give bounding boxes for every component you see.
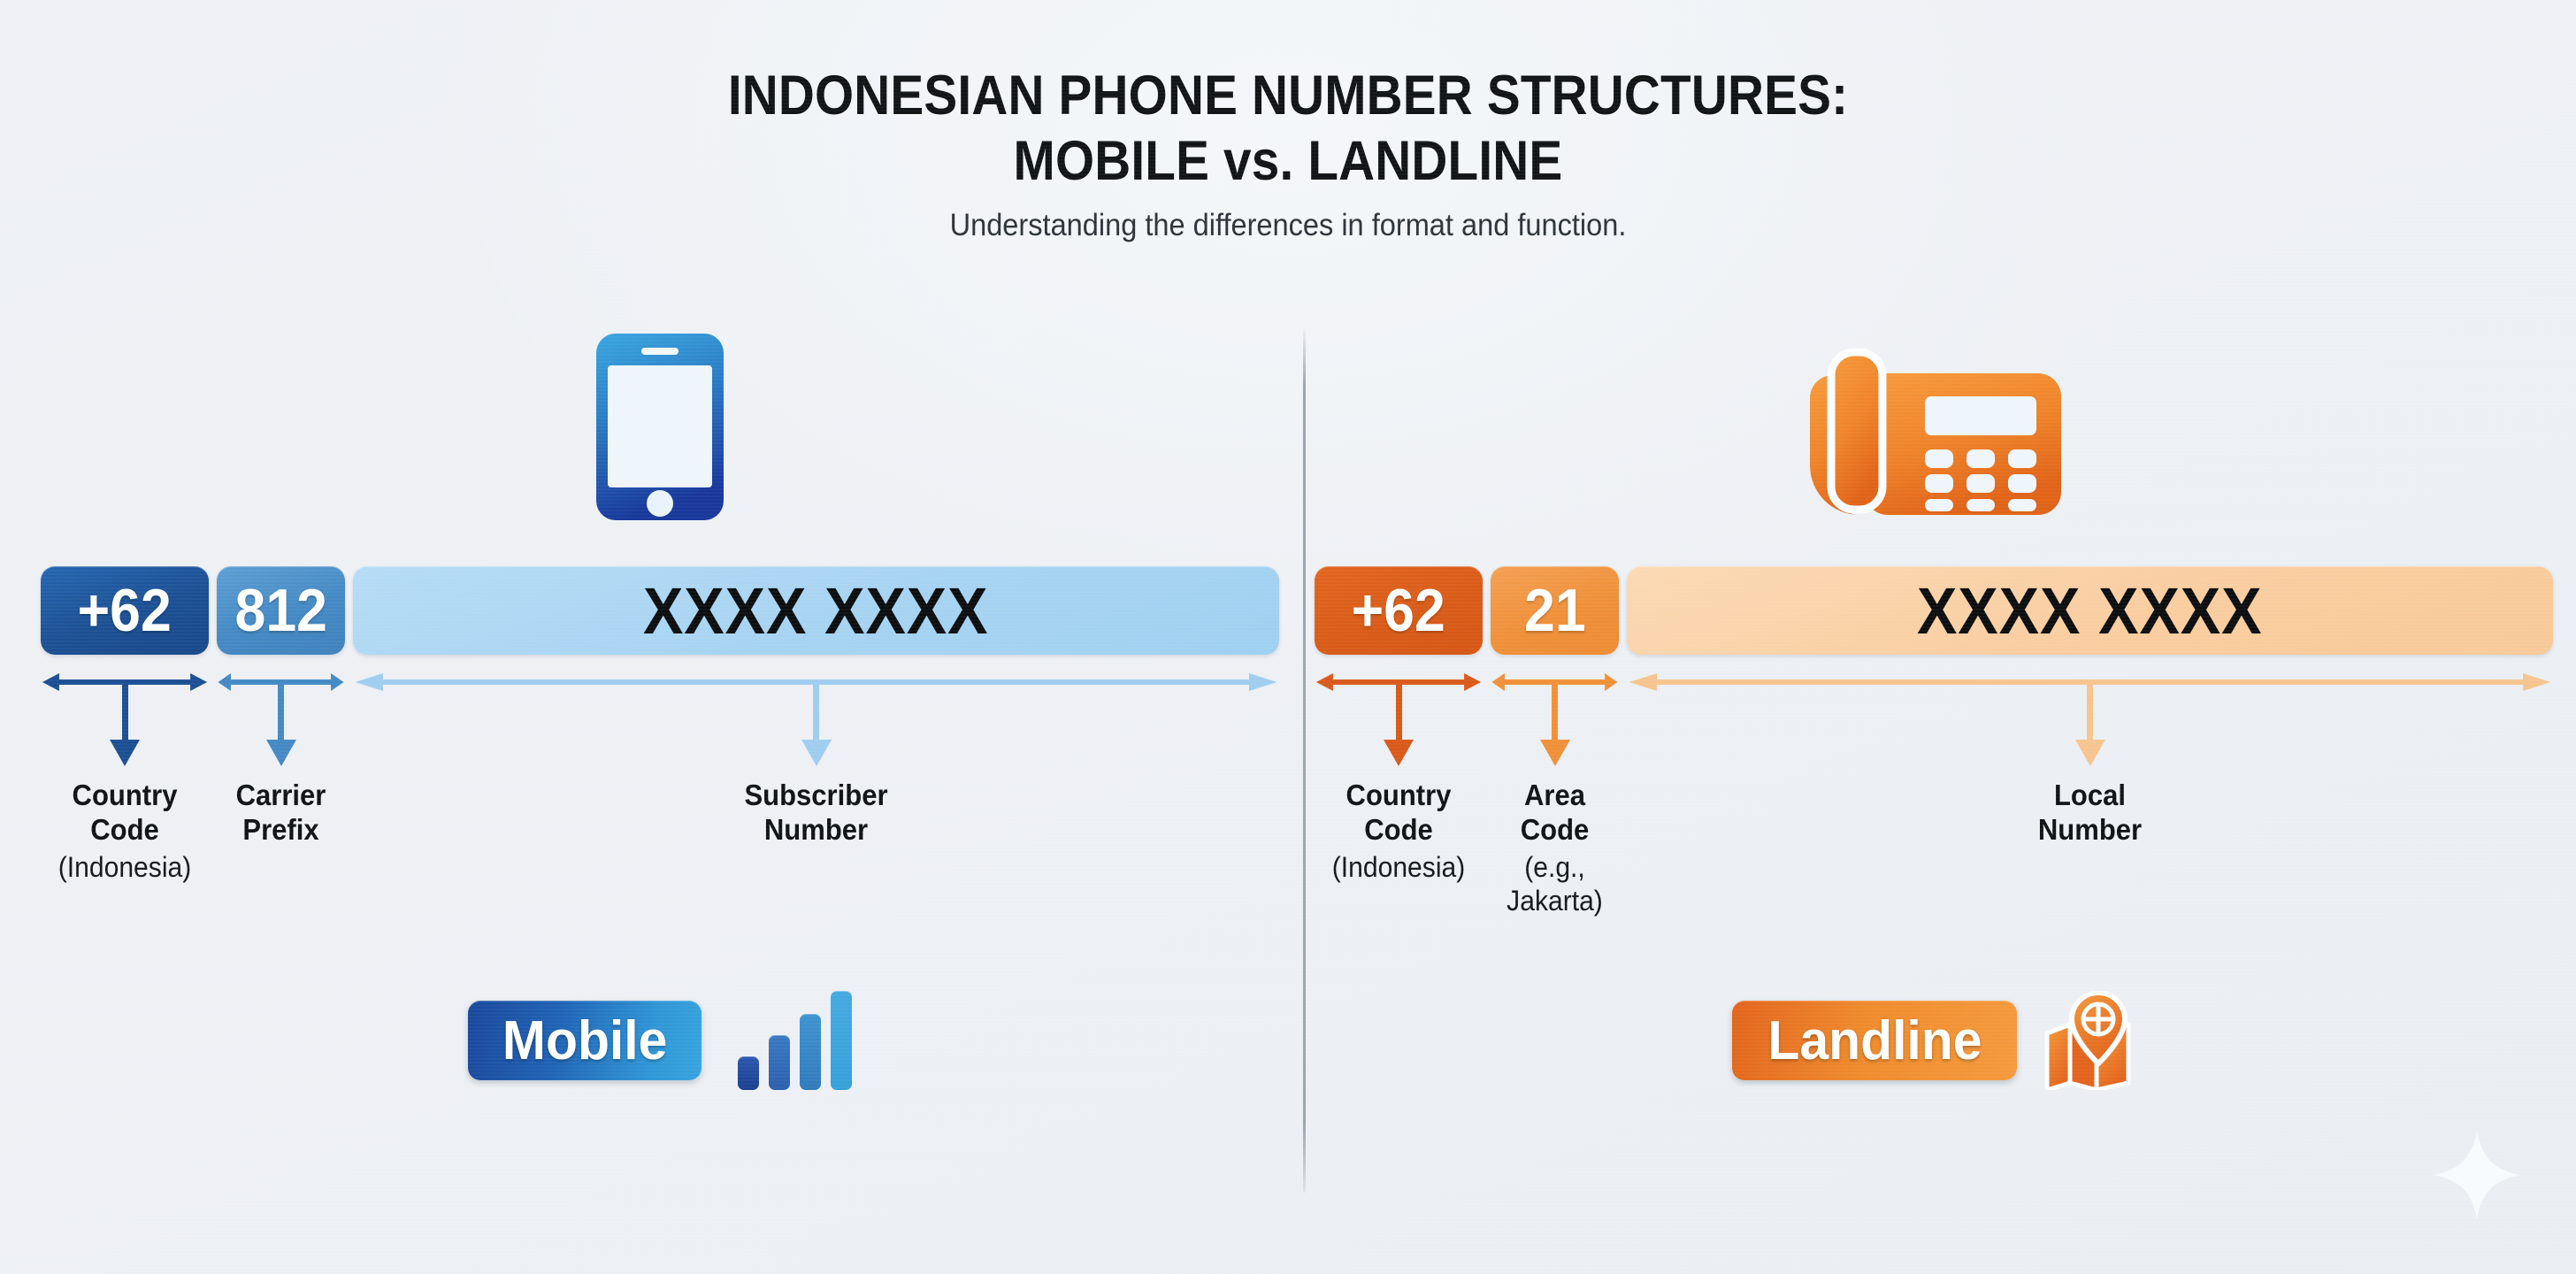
desk-phone-icon: [1801, 345, 2066, 522]
landline-badge-row: Landline: [1315, 991, 2553, 1090]
header: INDONESIAN PHONE NUMBER STRUCTURES: MOBI…: [0, 64, 2576, 243]
mobile-measures: Country Code (Indonesia) Carrier Prefix: [41, 665, 1279, 948]
drop-stem: [1552, 681, 1558, 747]
landline-measure-local-number: Local Number: [1627, 665, 2553, 948]
mobile-panel: +62 812 XXXX XXXX Country Code (Indonesi…: [41, 318, 1279, 1212]
signal-bar-1: [738, 1056, 759, 1090]
mobile-number-segments: +62 812 XXXX XXXX: [41, 566, 1279, 655]
panel-divider: [1303, 326, 1306, 1193]
drop-stem: [813, 681, 819, 747]
drop-stem: [278, 681, 284, 747]
signal-bars-icon: [728, 991, 852, 1090]
page-title: INDONESIAN PHONE NUMBER STRUCTURES: MOBI…: [129, 64, 2448, 194]
map-pin-svg: [2043, 991, 2135, 1090]
mobile-measure-carrier-prefix: Carrier Prefix: [217, 665, 345, 948]
mobile-measure-country-code: Country Code (Indonesia): [41, 665, 209, 948]
landline-segment-area-code: 21: [1491, 566, 1619, 655]
landline-measures: Country Code (Indonesia) Area Code (e.g.…: [1315, 665, 2553, 948]
landline-number-segments: +62 21 XXXX XXXX: [1315, 566, 2553, 655]
landline-icon-row: [1315, 318, 2553, 522]
drop-arrow-icon: [2075, 740, 2105, 766]
drop-arrow-icon: [1384, 740, 1414, 766]
landline-label-local-number: Local Number: [1627, 779, 2553, 848]
mobile-measure-subscriber-number: Subscriber Number: [353, 665, 1279, 948]
landline-badge[interactable]: Landline: [1732, 1001, 2018, 1080]
mobile-badge[interactable]: Mobile: [468, 1001, 701, 1080]
drop-stem: [1396, 681, 1402, 747]
mobile-badge-row: Mobile: [41, 991, 1279, 1090]
map-location-pin-icon: [2043, 991, 2135, 1090]
mobile-segment-subscriber-number: XXXX XXXX: [353, 566, 1279, 655]
mobile-label-subscriber-number: Subscriber Number: [353, 779, 1279, 848]
mobile-icon-row: [41, 318, 1279, 522]
landline-segment-local-number: XXXX XXXX: [1627, 566, 2553, 655]
drop-stem: [2087, 681, 2093, 747]
signal-bar-4: [831, 991, 852, 1090]
mobile-label-country-code: Country Code (Indonesia): [41, 779, 209, 885]
signal-bar-2: [769, 1035, 790, 1090]
landline-label-country-code: Country Code (Indonesia): [1315, 779, 1483, 885]
page-subtitle: Understanding the differences in format …: [90, 208, 2486, 243]
drop-arrow-icon: [801, 740, 832, 766]
drop-arrow-icon: [266, 740, 296, 766]
mobile-label-carrier-prefix: Carrier Prefix: [217, 779, 345, 848]
signal-bar-3: [800, 1014, 821, 1090]
mobile-segment-country-code: +62: [41, 566, 209, 655]
drop-stem: [122, 681, 128, 747]
landline-label-area-code: Area Code (e.g., Jakarta): [1491, 779, 1619, 917]
landline-panel: +62 21 XXXX XXXX Country Code (Indonesia…: [1315, 318, 2553, 1212]
drop-arrow-icon: [1540, 740, 1570, 766]
mobile-segment-carrier-prefix: 812: [217, 566, 345, 655]
sparkle-icon: [2429, 1127, 2525, 1223]
landline-measure-area-code: Area Code (e.g., Jakarta): [1491, 665, 1619, 948]
landline-segment-country-code: +62: [1315, 566, 1483, 655]
landline-measure-country-code: Country Code (Indonesia): [1315, 665, 1483, 948]
drop-arrow-icon: [110, 740, 140, 766]
smartphone-icon: [580, 332, 740, 522]
